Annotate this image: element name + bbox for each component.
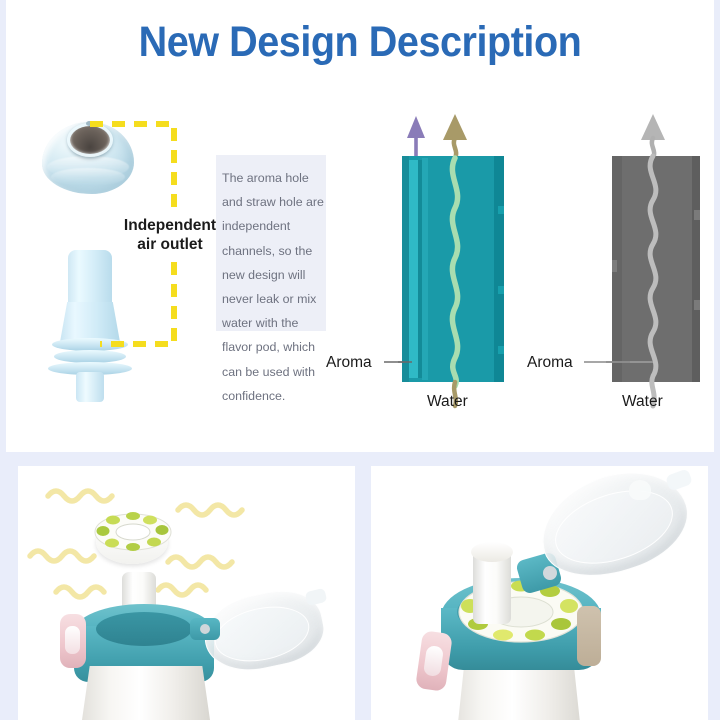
scene-pod-removed: [18, 466, 355, 720]
flip-lid-seal-right: [629, 480, 651, 500]
flip-lid-tab-right: [665, 468, 693, 491]
label-water-old: Water: [622, 393, 663, 411]
spout-tip-right: [471, 542, 513, 562]
straw-notch-old-2: [694, 210, 700, 220]
callout-label-line2: air outlet: [112, 236, 228, 255]
diagram-old-design: [606, 110, 706, 410]
water-arrow-new: [443, 114, 467, 158]
photo-panel-pod-installed: [371, 466, 708, 720]
parts-illustration-group: Independent air outlet: [28, 112, 218, 402]
straw-notch-2: [498, 286, 504, 294]
straw-notch-old-1: [612, 260, 617, 272]
callout-label: Independent air outlet: [112, 217, 228, 255]
photo-panel-pod-removed: [18, 466, 355, 720]
diagram-new-design: [398, 110, 508, 410]
straw-notch-1: [498, 206, 504, 214]
cap-inner-well-left: [96, 612, 192, 646]
mixed-arrow-old: [641, 114, 665, 158]
silicone-valve-part: [42, 116, 134, 194]
nozzle-taper: [60, 302, 120, 342]
page-title: New Design Description: [34, 18, 685, 67]
description-text: The aroma hole and straw hole are indepe…: [222, 166, 328, 408]
aroma-arrow-new: [407, 116, 425, 158]
flavor-pod-fruit-ring-left: [92, 512, 174, 556]
nozzle-stem: [76, 372, 104, 402]
hinge-pin-right: [543, 566, 557, 580]
top-info-panel: New Design Description Independent air o…: [6, 0, 714, 452]
straw-highlight-new: [422, 158, 428, 380]
nozzle-neck: [68, 250, 112, 306]
side-loop-right: [577, 606, 601, 666]
straw-notch-3: [498, 346, 504, 354]
straw-edge-left-new: [402, 156, 409, 382]
background-fill: [0, 452, 720, 466]
aroma-channel-wall-new: [418, 160, 422, 378]
label-aroma-old: Aroma: [527, 354, 573, 372]
straw-edge-right-old: [692, 156, 700, 382]
straw-notch-old-3: [694, 300, 700, 310]
strap-highlight-left: [65, 626, 80, 654]
scene-pod-installed: [371, 466, 708, 720]
label-aroma-new: Aroma: [326, 354, 372, 372]
label-water-new: Water: [427, 393, 468, 411]
callout-label-line1: Independent: [112, 217, 228, 236]
hinge-pin-left: [200, 624, 210, 634]
silicone-nozzle-part: [44, 250, 140, 400]
valve-ridge-lower: [51, 168, 125, 186]
valve-hole-rim: [67, 123, 113, 157]
valve-air-hole: [86, 121, 93, 126]
bottle-body-left: [82, 666, 210, 720]
aroma-channel-new: [409, 160, 418, 378]
